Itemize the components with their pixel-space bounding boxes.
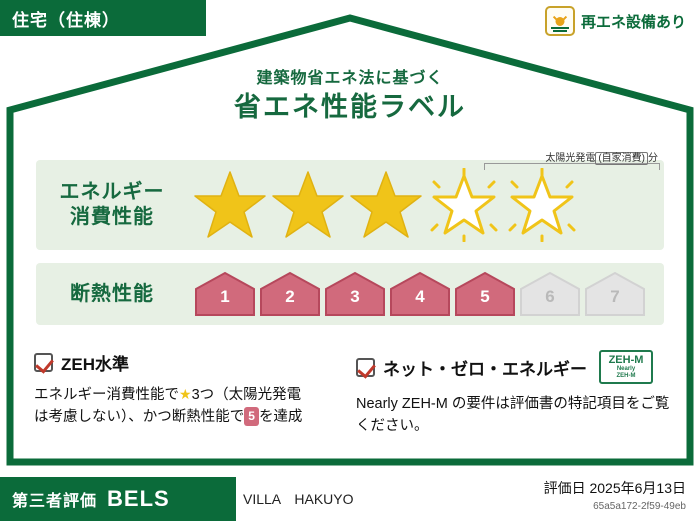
- footer-meta: 評価日 2025年6月13日 65a5a172-2f59-49eb: [544, 478, 686, 512]
- zeh-m-badge-sub2: ZEH-M: [617, 373, 636, 380]
- inline-star-icon: ★: [179, 386, 192, 402]
- checkmark-icon-zeh: [34, 353, 53, 372]
- zeh-standard-body: エネルギー消費性能で★3つ（太陽光発電は考慮しない）、かつ断熱性能で5を達成: [34, 384, 334, 429]
- property-name: VILLA HAKUYO: [243, 489, 354, 509]
- insulation-level-7: 7: [584, 271, 646, 317]
- insulation-level-3: 3: [324, 271, 386, 317]
- solar-note: 太陽光発電(自家消費)分: [545, 149, 658, 164]
- checkmark-icon-nze: [356, 358, 375, 377]
- third-party-label: 第三者評価: [12, 487, 97, 511]
- insulation-row-body: 1 2 3 4 5: [188, 263, 664, 325]
- insulation-level-5: 5: [454, 271, 516, 317]
- bels-label: BELS: [107, 486, 170, 512]
- zeh-standard-block: ZEH水準 エネルギー消費性能で★3つ（太陽光発電は考慮しない）、かつ断熱性能で…: [34, 350, 334, 429]
- star-solar-5: [504, 168, 580, 242]
- star-solar-4: [426, 168, 502, 242]
- net-zero-title: ネット・ゼロ・エネルギー: [383, 355, 587, 380]
- zeh-standard-title: ZEH水準: [61, 350, 129, 375]
- net-zero-energy-block: ネット・ゼロ・エネルギー ZEH-M Nearly ZEH-M Nearly Z…: [356, 350, 672, 438]
- insulation-performance-row: 断熱性能 1 2 3 4: [36, 263, 664, 325]
- zeh-m-badge-main: ZEH-M: [609, 355, 644, 366]
- insulation-level-6: 6: [519, 271, 581, 317]
- star-filled-1: [192, 168, 268, 242]
- energy-row-label: エネルギー消費性能: [36, 180, 188, 230]
- heading-main: 省エネ性能ラベル: [0, 85, 700, 124]
- energy-label-document: 住宅（住棟） 再エネ設備あり 建築物省エネ法に基づく 省エネ性能ラベル エネルギ…: [0, 0, 700, 521]
- star-filled-2: [270, 168, 346, 242]
- insulation-row-label: 断熱性能: [36, 282, 188, 307]
- solar-note-boxed: (自家消費): [595, 152, 648, 165]
- net-zero-body: Nearly ZEH-M の要件は評価書の特記項目をご覧ください。: [356, 393, 672, 438]
- energy-row-body: 太陽光発電(自家消費)分: [188, 160, 664, 250]
- insulation-level-scale: 1 2 3 4 5: [188, 263, 664, 325]
- insulation-level-4: 4: [389, 271, 451, 317]
- solar-panel-icon: [545, 6, 575, 36]
- inline-level-badge: 5: [244, 407, 259, 426]
- energy-performance-row: エネルギー消費性能 太陽光発電(自家消費)分: [36, 160, 664, 250]
- zeh-m-badge-sub1: Nearly: [617, 366, 635, 373]
- zeh-standard-head: ZEH水準: [34, 350, 334, 375]
- insulation-level-1: 1: [194, 271, 256, 317]
- third-party-evaluation-bar: 第三者評価 BELS: [0, 477, 236, 521]
- renewable-equipment-badge: 再エネ設備あり: [545, 6, 686, 36]
- star-filled-3: [348, 168, 424, 242]
- evaluation-date: 評価日 2025年6月13日: [544, 478, 686, 498]
- insulation-level-2: 2: [259, 271, 321, 317]
- evaluation-code: 65a5a172-2f59-49eb: [544, 501, 686, 512]
- zeh-m-badge-icon: ZEH-M Nearly ZEH-M: [599, 350, 653, 384]
- net-zero-head: ネット・ゼロ・エネルギー ZEH-M Nearly ZEH-M: [356, 350, 672, 384]
- renewable-badge-label: 再エネ設備あり: [581, 11, 686, 32]
- star-rating: [188, 160, 664, 250]
- category-title: 住宅（住棟）: [0, 0, 206, 36]
